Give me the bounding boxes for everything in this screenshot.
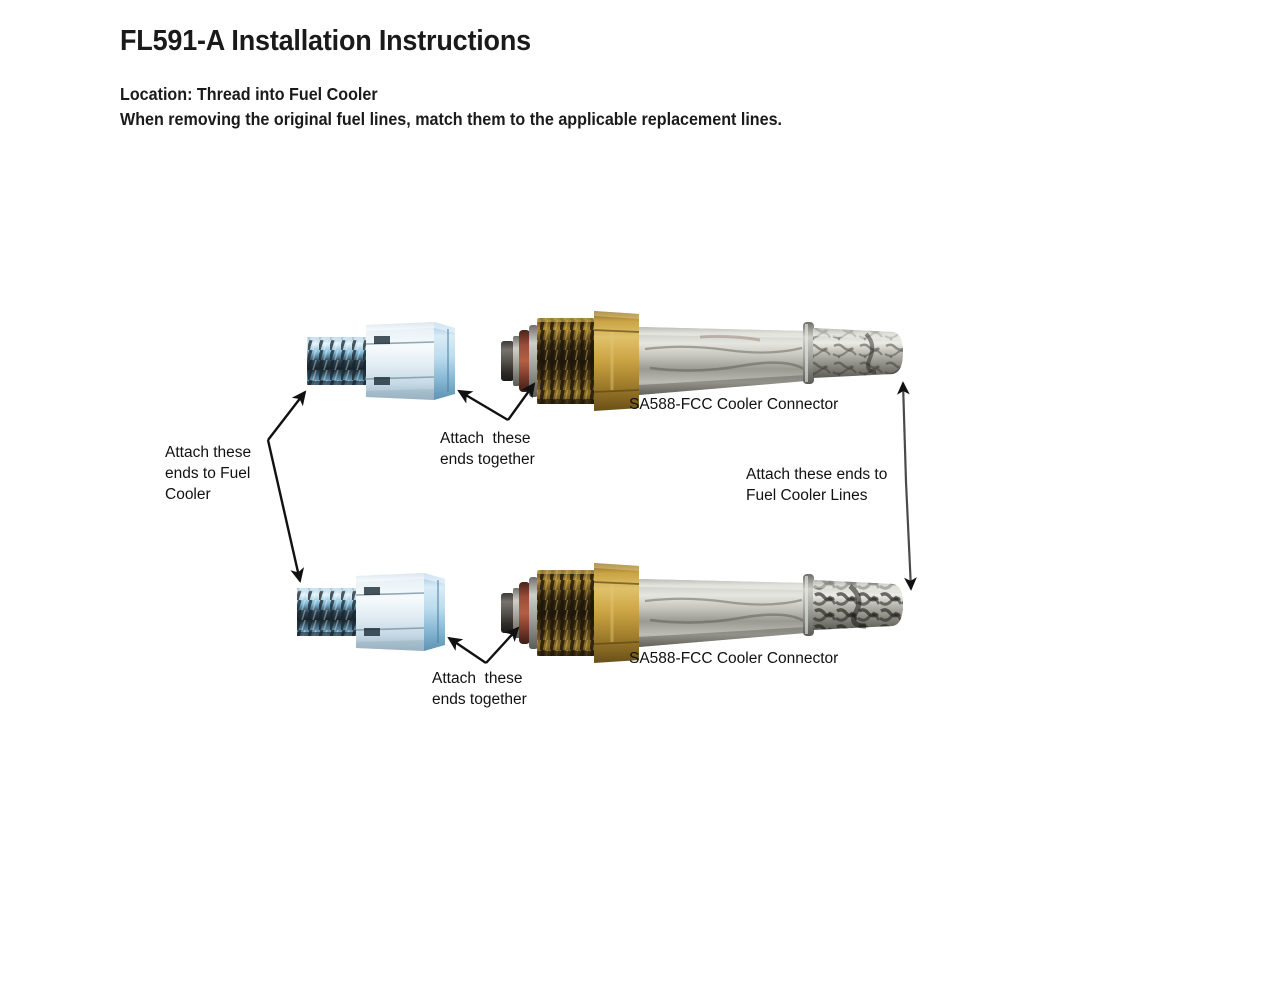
connector-bottom-brass-threads xyxy=(537,570,595,656)
connector-bottom-nose xyxy=(501,577,538,649)
adapter-top-hex-body xyxy=(366,322,434,400)
adapter-bottom-collar xyxy=(424,573,445,651)
connector-bottom-tube xyxy=(639,579,806,647)
document-page: FL591-A Installation Instructions Locati… xyxy=(0,0,1280,989)
connector-top-brass-threads xyxy=(537,318,595,404)
connector-bottom-bead-collar xyxy=(803,574,814,636)
arrow-fuel-cooler-lines xyxy=(903,383,911,589)
adapter-fitting-bottom xyxy=(297,573,445,651)
callout-attach-to-fuel-cooler-lines: Attach these ends to Fuel Cooler Lines xyxy=(746,464,887,506)
adapter-top-thread xyxy=(307,337,366,385)
arrow-attach-together-bottom xyxy=(449,628,518,663)
arrow-fuel-cooler-ends xyxy=(268,392,305,581)
connector-top-tube-end xyxy=(813,328,903,378)
connector-top-tube xyxy=(639,327,806,395)
callout-attach-together-bottom: Attach these ends together xyxy=(432,668,527,710)
part-label-cooler-connector-top: SA588-FCC Cooler Connector xyxy=(629,394,838,415)
callout-attach-together-top: Attach these ends together xyxy=(440,428,535,470)
adapter-bottom-hex-body xyxy=(356,573,424,651)
connector-bottom-tube-end xyxy=(813,580,903,630)
adapter-bottom-thread xyxy=(297,588,356,636)
adapter-fitting-top xyxy=(307,322,455,400)
adapter-top-collar xyxy=(434,322,455,400)
part-label-cooler-connector-bottom: SA588-FCC Cooler Connector xyxy=(629,648,838,669)
connector-top-bead-collar xyxy=(803,322,814,384)
callout-attach-to-fuel-cooler: Attach these ends to Fuel Cooler xyxy=(165,442,251,505)
